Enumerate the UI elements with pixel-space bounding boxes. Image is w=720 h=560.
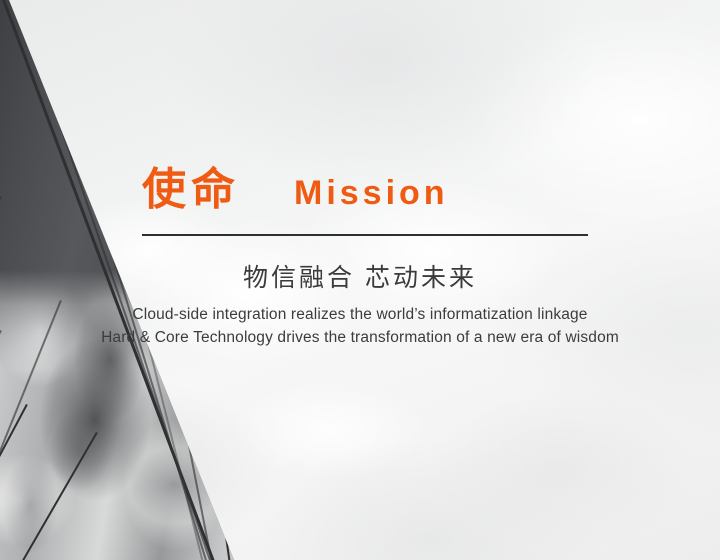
heading-divider [142,234,588,236]
heading-english: Mission [294,176,449,210]
hero-banner: 使命 Mission 物信融合 芯动未来 Cloud-side integrat… [0,0,720,560]
subtitle-chinese: 物信融合 芯动未来 [0,258,720,294]
heading-chinese: 使命 [142,168,240,212]
tagline-line-1: Cloud-side integration realizes the worl… [0,303,720,326]
hero-heading: 使命 Mission [142,168,449,212]
tagline-block: Cloud-side integration realizes the worl… [0,303,720,349]
tagline-line-2: Hard & Core Technology drives the transf… [0,326,720,349]
